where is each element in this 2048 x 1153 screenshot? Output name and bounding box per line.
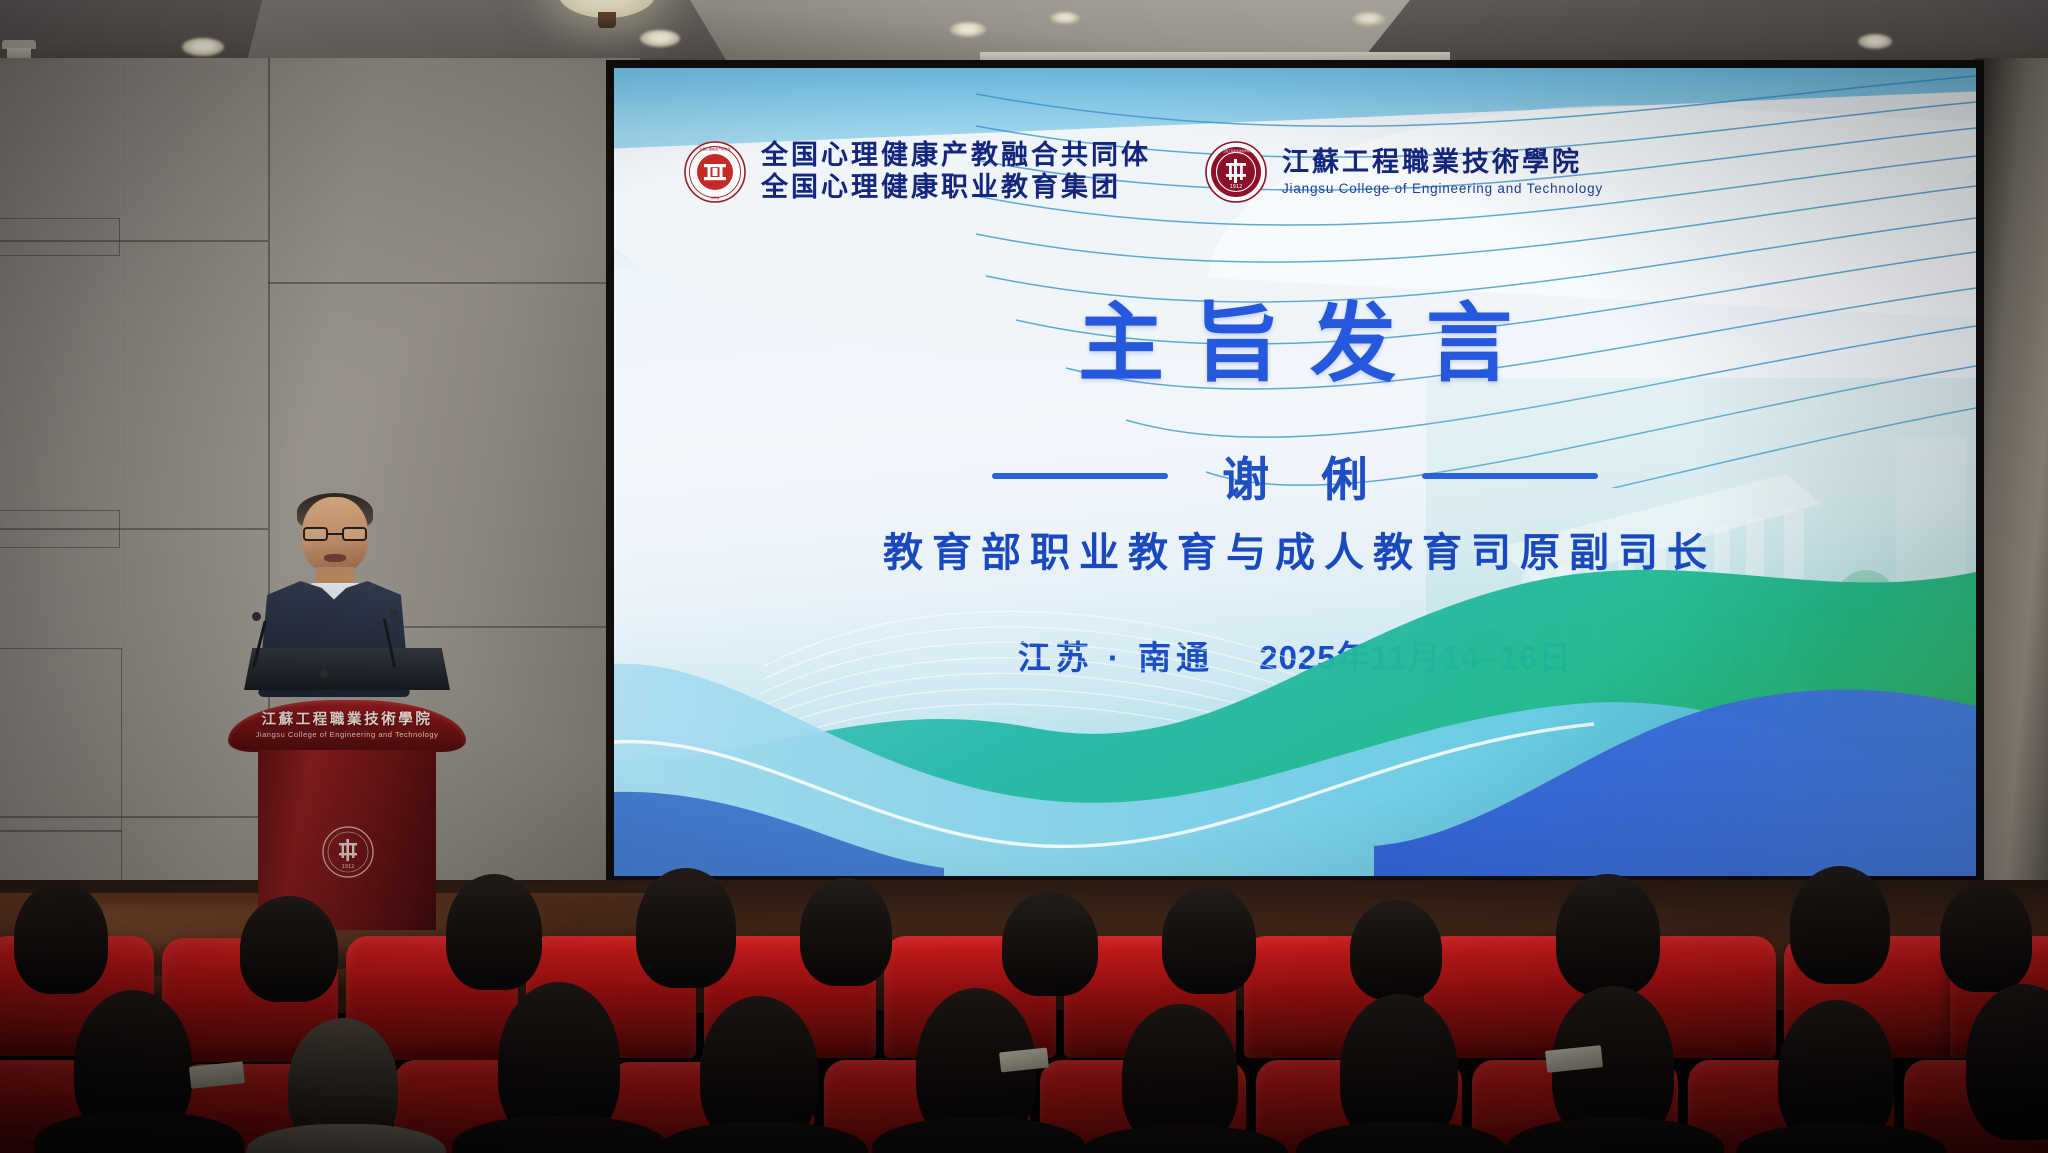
wall-recess-panel (0, 510, 120, 548)
eyeglasses-icon (303, 527, 367, 541)
wall-recess-panel (0, 218, 120, 256)
wave-band-decoration (614, 546, 1976, 876)
slide-speaker-name: 谢 俐 (1202, 441, 1388, 510)
decorative-rule-left (992, 473, 1168, 479)
consortium-name-line2: 全国心理健康职业教育集团 (761, 172, 1151, 204)
audience-area (0, 878, 2048, 1153)
stone-panel-wall-right (1975, 58, 2048, 901)
podium-nameplate: 江蘇工程職業技術學院 Jiangsu College of Engineerin… (228, 708, 466, 739)
recessed-ceiling-light (1050, 12, 1080, 24)
recessed-ceiling-light (640, 30, 680, 47)
logo-unit-college: 1912 江蘇工程職業技術學院 江蘇工程職業技術學院 Jiangsu Colle… (1205, 141, 1603, 203)
podium-crest: 1912 (322, 826, 374, 878)
podium-crest-year: 1912 (342, 864, 355, 870)
projection-screen: 全国心理健康产教融合 共同体 全国心理健康产教融合共同体 全国心理健康职业教育集… (614, 68, 1976, 876)
recessed-ceiling-light (1352, 12, 1386, 26)
audience-head (1350, 900, 1442, 1000)
microphone-capsule (252, 612, 261, 621)
handout-paper (999, 1048, 1049, 1073)
audience-head (1790, 866, 1890, 984)
consortium-name-line1: 全国心理健康产教融合共同体 (761, 140, 1151, 172)
audience-head (1162, 886, 1256, 994)
recessed-ceiling-light (1858, 34, 1892, 49)
crest-year: 1912 (1230, 184, 1243, 190)
svg-text:江蘇工程職業技術學院: 江蘇工程職業技術學院 (1223, 149, 1250, 153)
audience-head (1556, 874, 1660, 996)
audience-head (240, 896, 338, 1002)
logo-unit-consortium: 全国心理健康产教融合 共同体 全国心理健康产教融合共同体 全国心理健康职业教育集… (684, 140, 1151, 204)
audience-head (446, 874, 542, 990)
recessed-ceiling-light (182, 38, 224, 56)
slide-main-title: 主旨发言 (614, 273, 1976, 398)
recessed-ceiling-light (950, 22, 986, 37)
microphone-capsule (390, 610, 399, 619)
audience-head (1940, 882, 2032, 992)
consortium-crest: 全国心理健康产教融合 共同体 (684, 141, 746, 203)
audience-head (636, 868, 736, 988)
decorative-rule-right (1422, 473, 1598, 479)
audience-head (1002, 892, 1098, 996)
pendant-globe-lamp (558, 0, 656, 30)
slide-speaker-name-row: 谢 俐 (614, 441, 1976, 510)
audience-head (800, 878, 892, 986)
speaker-mouth (324, 554, 346, 562)
svg-text:共同体: 共同体 (710, 195, 719, 200)
podium-name-en: Jiangsu College of Engineering and Techn… (228, 730, 466, 739)
college-name-cn: 江蘇工程職業技術學院 (1282, 147, 1603, 179)
conference-photo: 全国心理健康产教融合 共同体 全国心理健康产教融合共同体 全国心理健康职业教育集… (0, 0, 2048, 1153)
podium-name-cn: 江蘇工程職業技術學院 (228, 708, 466, 729)
audience-head (14, 882, 108, 994)
slide-logo-row: 全国心理健康产教融合 共同体 全国心理健康产教融合共同体 全国心理健康职业教育集… (684, 140, 1603, 204)
jiangsu-college-crest: 1912 江蘇工程職業技術學院 (1205, 141, 1267, 203)
college-name-en: Jiangsu College of Engineering and Techn… (1282, 181, 1603, 197)
svg-text:全国心理健康产教融合: 全国心理健康产教融合 (700, 146, 731, 151)
